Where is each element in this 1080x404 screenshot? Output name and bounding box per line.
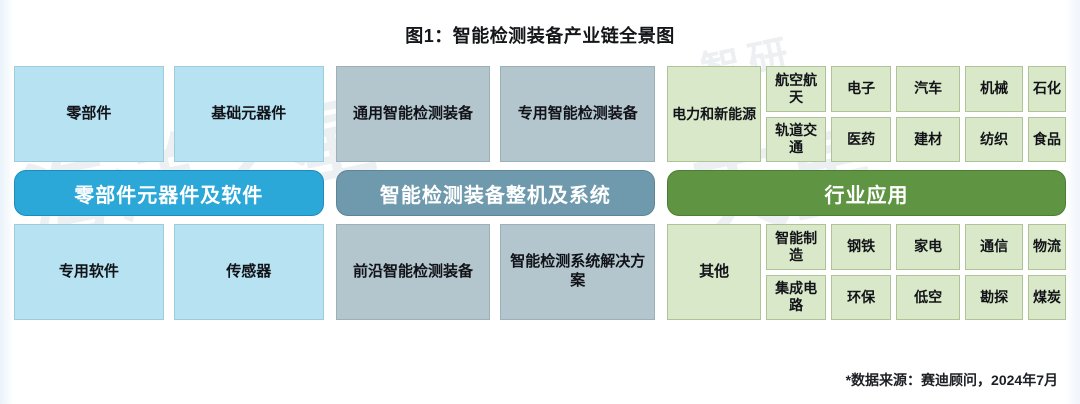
industry-cell-low-altitude[interactable]: 低空 (896, 275, 960, 321)
industry-cell-food[interactable]: 食品 (1028, 117, 1066, 163)
downstream-banner-row: 行业应用 (667, 170, 1066, 216)
midstream-cell-dedicated-equipment[interactable]: 专用智能检测装备 (500, 66, 655, 162)
industry-cell-exploration[interactable]: 勘探 (965, 275, 1023, 321)
midstream-cell-system-solution[interactable]: 智能检测系统解决方案 (500, 224, 655, 320)
industry-cell-coal[interactable]: 煤炭 (1028, 275, 1066, 321)
value-chain-columns: 零部件 基础元器件 零部件元器件及软件 专用软件 传感器 通用智能检测装备 专用… (14, 66, 1066, 336)
industry-cell-power-new-energy[interactable]: 电力和新能源 (667, 66, 761, 162)
upstream-cell-basic-components[interactable]: 基础元器件 (174, 66, 324, 162)
upstream-top-row: 零部件 基础元器件 (14, 66, 324, 162)
industry-cell-textile[interactable]: 纺织 (965, 117, 1023, 163)
industry-cell-integrated-circuit[interactable]: 集成电路 (766, 275, 826, 321)
industry-cell-environmental-protection[interactable]: 环保 (831, 275, 891, 321)
industry-cell-home-appliance[interactable]: 家电 (896, 224, 960, 270)
upstream-cell-parts[interactable]: 零部件 (14, 66, 164, 162)
column-downstream: 航空航天 电子 汽车 机械 石化 电力和新能源 轨道交通 医药 建材 纺织 食品… (667, 66, 1066, 336)
industry-cell-petrochemical[interactable]: 石化 (1028, 66, 1066, 112)
industry-cell-pharmaceutical[interactable]: 医药 (831, 117, 891, 163)
industry-cell-rail-transit[interactable]: 轨道交通 (766, 117, 826, 163)
upstream-cell-dedicated-software[interactable]: 专用软件 (14, 224, 164, 320)
midstream-cell-general-equipment[interactable]: 通用智能检测装备 (336, 66, 491, 162)
industry-cell-machinery[interactable]: 机械 (965, 66, 1023, 112)
industry-cell-logistics[interactable]: 物流 (1028, 224, 1066, 270)
downstream-bottom-row: 智能制造 钢铁 家电 通信 物流 其他 集成电路 环保 低空 勘探 煤炭 (667, 224, 1066, 320)
upstream-bottom-row: 专用软件 传感器 (14, 224, 324, 320)
page-title: 图1：智能检测装备产业链全景图 (0, 22, 1080, 48)
upstream-cell-sensor[interactable]: 传感器 (174, 224, 324, 320)
banner-downstream[interactable]: 行业应用 (667, 170, 1066, 216)
column-midstream: 通用智能检测装备 专用智能检测装备 智能检测装备整机及系统 前沿智能检测装备 智… (336, 66, 656, 336)
midstream-banner-row: 智能检测装备整机及系统 (336, 170, 656, 216)
banner-upstream[interactable]: 零部件元器件及软件 (14, 170, 324, 216)
industry-cell-other[interactable]: 其他 (667, 224, 761, 320)
midstream-bottom-row: 前沿智能检测装备 智能检测系统解决方案 (336, 224, 656, 320)
banner-midstream[interactable]: 智能检测装备整机及系统 (336, 170, 656, 216)
infographic-page: 海洋之星 天星 数据 报告 研究 智研 图1：智能检测装备产业链全景图 零部件 … (0, 0, 1080, 404)
industry-cell-communication[interactable]: 通信 (965, 224, 1023, 270)
column-upstream: 零部件 基础元器件 零部件元器件及软件 专用软件 传感器 (14, 66, 324, 336)
midstream-top-row: 通用智能检测装备 专用智能检测装备 (336, 66, 656, 162)
industry-grid-top: 航空航天 电子 汽车 机械 石化 电力和新能源 轨道交通 医药 建材 纺织 食品 (667, 66, 1066, 162)
industry-cell-electronics[interactable]: 电子 (831, 66, 891, 112)
industry-cell-steel[interactable]: 钢铁 (831, 224, 891, 270)
industry-cell-smart-manufacturing[interactable]: 智能制造 (766, 224, 826, 270)
midstream-cell-frontier-equipment[interactable]: 前沿智能检测装备 (336, 224, 491, 320)
downstream-top-row: 航空航天 电子 汽车 机械 石化 电力和新能源 轨道交通 医药 建材 纺织 食品 (667, 66, 1066, 162)
upstream-banner-row: 零部件元器件及软件 (14, 170, 324, 216)
industry-grid-bottom: 智能制造 钢铁 家电 通信 物流 其他 集成电路 环保 低空 勘探 煤炭 (667, 224, 1066, 320)
industry-cell-building-materials[interactable]: 建材 (896, 117, 960, 163)
industry-cell-aerospace[interactable]: 航空航天 (766, 66, 826, 112)
source-note: *数据来源：赛迪顾问，2024年7月 (846, 370, 1058, 390)
industry-cell-automotive[interactable]: 汽车 (896, 66, 960, 112)
